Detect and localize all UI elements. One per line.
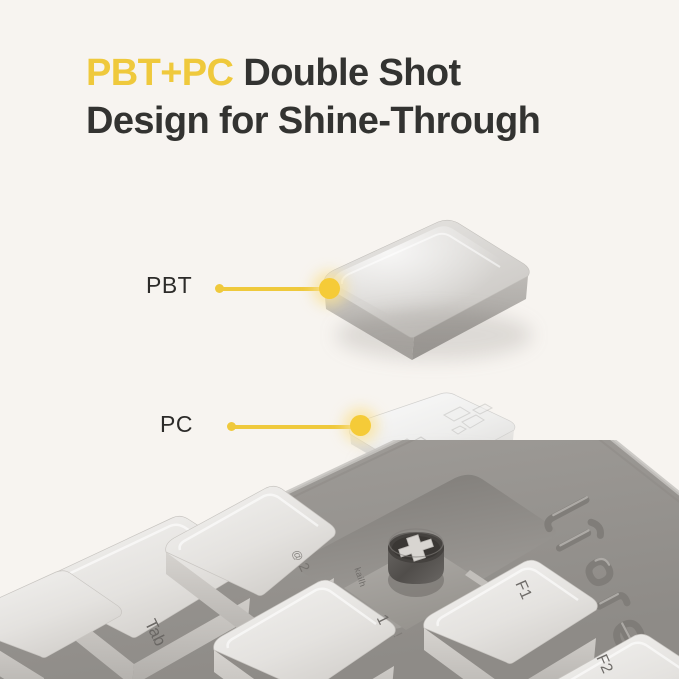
page-title: PBT+PC Double Shot Design for Shine-Thro… xyxy=(86,50,646,145)
callout-label-pbt: PBT xyxy=(146,272,192,299)
callout-dot-start-pc xyxy=(227,422,236,431)
esc-keycap-illustration: ESC xyxy=(312,214,552,366)
keyboard-illustration xyxy=(0,440,679,679)
headline-accent-text: PBT+PC xyxy=(86,52,233,94)
callout-dot-target-pbt xyxy=(319,278,340,299)
esc-keycap-shadow xyxy=(336,310,532,360)
keyboard-svg xyxy=(0,440,679,679)
callout-line-pc xyxy=(231,425,359,429)
callout-line-pbt xyxy=(219,287,329,291)
callout-dot-start-pbt xyxy=(215,284,224,293)
callout-label-pc: PC xyxy=(160,411,193,438)
kailh-switch xyxy=(388,529,444,597)
headline-rest-line1: Double Shot xyxy=(233,52,460,94)
callout-dot-target-pc xyxy=(350,415,371,436)
product-marketing-image: PBT+PC Double Shot Design for Shine-Thro… xyxy=(0,0,679,679)
headline-line2: Design for Shine-Through xyxy=(86,98,646,146)
